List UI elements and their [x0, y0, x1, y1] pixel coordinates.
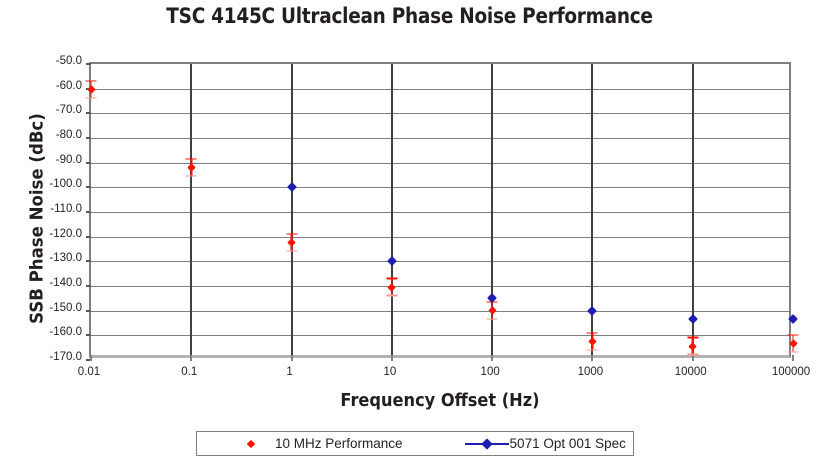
- y-tick-label: -80.0: [8, 129, 82, 141]
- red-diamond-marker-icon: [187, 163, 195, 171]
- y-tick-mark: [86, 63, 91, 65]
- gridline-horizontal: [91, 237, 789, 238]
- y-tick-mark: [86, 285, 91, 287]
- red-diamond-marker-icon: [588, 337, 596, 345]
- data-point-performance: [387, 283, 396, 292]
- blue-diamond-marker-icon: [788, 314, 798, 324]
- plot-area: [89, 62, 791, 358]
- y-tick-label: -150.0: [8, 302, 82, 314]
- gridline-horizontal: [91, 187, 789, 188]
- x-tick-mark: [190, 355, 192, 361]
- chart-title: TSC 4145C Ultraclean Phase Noise Perform…: [49, 4, 770, 28]
- error-bar-cap-lower: [788, 351, 799, 353]
- red-diamond-marker-icon: [287, 239, 295, 247]
- gridline-vertical: [391, 64, 393, 355]
- data-point-spec: [488, 294, 497, 303]
- gridline-vertical: [692, 64, 694, 355]
- x-tick-mark: [692, 355, 694, 361]
- data-point-spec: [789, 315, 798, 324]
- error-bar-cap-lower: [286, 250, 297, 252]
- gridline-horizontal: [91, 335, 789, 336]
- error-bar-cap-lower: [386, 295, 397, 297]
- y-tick-mark: [86, 260, 91, 262]
- x-tick-label: 10: [345, 366, 435, 378]
- x-tick-mark: [591, 355, 593, 361]
- x-tick-mark: [391, 355, 393, 361]
- y-tick-mark: [86, 334, 91, 336]
- data-point-performance: [287, 238, 296, 247]
- x-tick-label: 10000: [646, 366, 736, 378]
- gridline-vertical: [190, 64, 192, 355]
- error-bar-cap-upper: [788, 334, 799, 336]
- red-diamond-marker-icon: [241, 438, 263, 450]
- y-tick-label: -120.0: [8, 228, 82, 240]
- error-bar-cap-lower: [86, 97, 97, 99]
- error-bar-cap-upper: [186, 158, 197, 160]
- data-point-performance: [87, 85, 96, 94]
- y-tick-label: -160.0: [8, 326, 82, 338]
- x-axis-title: Frequency Offset (Hz): [124, 390, 756, 411]
- gridline-horizontal: [91, 113, 789, 114]
- legend-entry-5071-opt-001-spec[interactable]: 5071 Opt 001 Spec: [465, 432, 626, 455]
- y-tick-mark: [86, 236, 91, 238]
- data-point-performance: [789, 339, 798, 348]
- x-tick-label: 100: [445, 366, 535, 378]
- y-tick-mark: [86, 186, 91, 188]
- x-tick-label: 1000: [545, 366, 635, 378]
- y-tick-label: -140.0: [8, 277, 82, 289]
- blue-diamond-marker-icon: [587, 306, 597, 316]
- red-diamond-marker-icon: [688, 342, 696, 350]
- error-bar-cap-lower: [186, 175, 197, 177]
- gridline-vertical: [291, 64, 293, 355]
- data-point-performance: [688, 342, 697, 351]
- error-bar-cap-lower: [587, 349, 598, 351]
- gridline-horizontal: [91, 89, 789, 90]
- y-tick-label: -60.0: [8, 80, 82, 92]
- y-tick-label: -100.0: [8, 178, 82, 190]
- data-point-performance: [588, 337, 597, 346]
- data-point-performance: [488, 306, 497, 315]
- legend-entry-10-mhz-performance[interactable]: 10 MHz Performance: [241, 432, 403, 455]
- legend-label-1: 5071 Opt 001 Spec: [510, 436, 626, 451]
- y-tick-label: -90.0: [8, 154, 82, 166]
- data-point-spec: [588, 306, 597, 315]
- gridline-horizontal: [91, 261, 789, 262]
- red-diamond-marker-icon: [488, 306, 496, 314]
- x-tick-label: 0.1: [144, 366, 234, 378]
- red-diamond-marker-icon: [87, 86, 95, 94]
- y-tick-mark: [86, 211, 91, 213]
- data-point-spec: [287, 183, 296, 192]
- y-tick-mark: [86, 112, 91, 114]
- red-diamond-marker-icon: [789, 340, 797, 348]
- x-tick-label: 1: [245, 366, 335, 378]
- data-point-performance: [187, 163, 196, 172]
- blue-diamond-marker-icon: [688, 314, 698, 324]
- error-bar-cap-upper: [386, 278, 397, 280]
- y-tick-mark: [86, 137, 91, 139]
- error-bar-cap-upper: [687, 337, 698, 339]
- gridline-horizontal: [91, 212, 789, 213]
- x-tick-mark: [90, 355, 92, 361]
- gridline-horizontal: [91, 138, 789, 139]
- error-bar-cap-upper: [86, 80, 97, 82]
- y-tick-label: -110.0: [8, 203, 82, 215]
- y-tick-mark: [86, 162, 91, 164]
- error-bar-cap-lower: [687, 354, 698, 356]
- blue-diamond-line-marker-icon: [465, 438, 509, 450]
- blue-diamond-marker-icon: [287, 182, 297, 192]
- data-point-spec: [387, 257, 396, 266]
- x-tick-label: 100000: [746, 366, 819, 378]
- data-point-spec: [688, 315, 697, 324]
- blue-diamond-marker-icon: [387, 256, 397, 266]
- blue-diamond-marker-icon: [487, 293, 497, 303]
- error-bar-cap-upper: [286, 233, 297, 235]
- y-tick-label: -170.0: [8, 351, 82, 363]
- gridline-horizontal: [91, 286, 789, 287]
- x-tick-mark: [491, 355, 493, 361]
- x-tick-mark: [792, 355, 794, 361]
- chart-legend: 10 MHz Performance 5071 Opt 001 Spec: [196, 431, 634, 456]
- legend-label-0: 10 MHz Performance: [275, 436, 403, 451]
- error-bar-cap-lower: [487, 318, 498, 320]
- red-diamond-marker-icon: [388, 283, 396, 291]
- y-tick-mark: [86, 310, 91, 312]
- y-tick-label: -70.0: [8, 104, 82, 116]
- y-tick-label: -50.0: [8, 55, 82, 67]
- error-bar-cap-upper: [587, 332, 598, 334]
- x-tick-mark: [291, 355, 293, 361]
- gridline-horizontal: [91, 311, 789, 312]
- x-tick-label: 0.01: [44, 366, 134, 378]
- y-tick-label: -130.0: [8, 252, 82, 264]
